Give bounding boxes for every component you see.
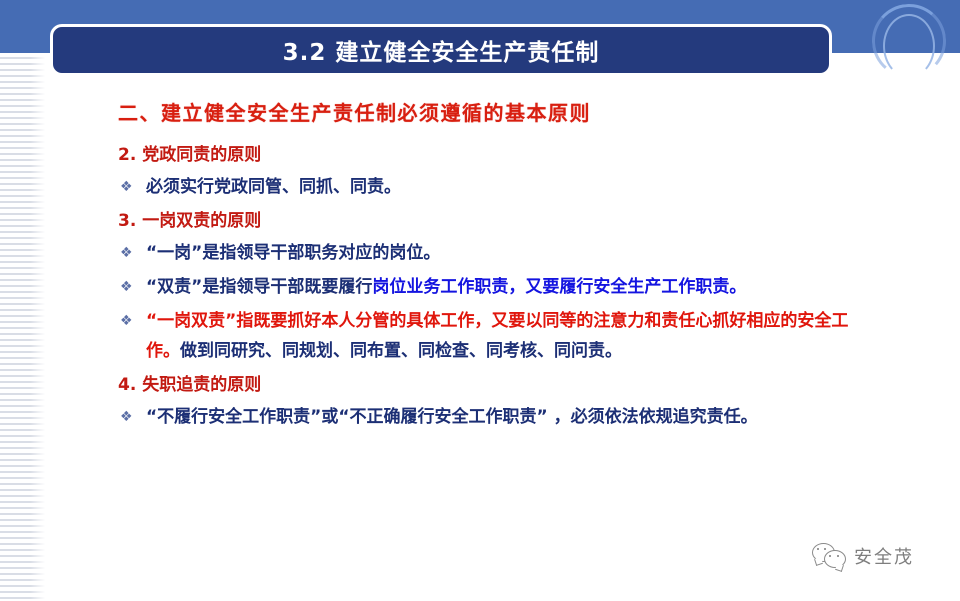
bullet-text: “一岗”是指领导干部职务对应的岗位。 — [146, 238, 878, 268]
content-blocks: 2. 党政同责的原则❖必须实行党政同管、同抓、同责。3. 一岗双责的原则❖“一岗… — [118, 142, 878, 432]
bullet-text: “一岗双责”指既要抓好本人分管的具体工作，又要以同等的注意力和责任心抓好相应的安… — [146, 306, 878, 366]
diamond-bullet-icon: ❖ — [118, 172, 146, 202]
slide-title-plaque: 3.2 建立健全安全生产责任制 — [50, 24, 832, 76]
bullet-item: ❖“一岗”是指领导干部职务对应的岗位。 — [118, 238, 878, 268]
bullet-item: ❖“双责”是指领导干部既要履行岗位业务工作职责，又要履行安全生产工作职责。 — [118, 272, 878, 302]
text-run: “一岗”是指领导干部职务对应的岗位。 — [146, 243, 440, 263]
text-run: “不履行安全工作职责”或“不正确履行安全工作职责” ，必须依法依规追究责任。 — [146, 407, 758, 427]
page-title: 3.2 建立健全安全生产责任制 — [283, 33, 600, 67]
text-run: 必须实行党政同管、同抓、同责。 — [146, 177, 401, 197]
principle-heading: 2. 党政同责的原则 — [118, 142, 878, 168]
bullet-text: 必须实行党政同管、同抓、同责。 — [146, 172, 878, 202]
diamond-bullet-icon: ❖ — [118, 272, 146, 302]
diamond-bullet-icon: ❖ — [118, 306, 146, 336]
slide-canvas: 3.2 建立健全安全生产责任制 二、建立健全安全生产责任制必须遵循的基本原则 2… — [0, 0, 960, 601]
diamond-bullet-icon: ❖ — [118, 402, 146, 432]
diamond-bullet-icon: ❖ — [118, 238, 146, 268]
bullet-item: ❖必须实行党政同管、同抓、同责。 — [118, 172, 878, 202]
text-run: “双责”是指领导干部既要履行 — [146, 277, 372, 297]
text-run: 做到同研究、同规划、同布置、同检查、同考核、同问责。 — [180, 341, 622, 361]
principle-heading: 3. 一岗双责的原则 — [118, 208, 878, 234]
principle-heading: 4. 失职追责的原则 — [118, 372, 878, 398]
left-stripe-fade — [30, 53, 48, 601]
bullet-text: “双责”是指领导干部既要履行岗位业务工作职责，又要履行安全生产工作职责。 — [146, 272, 878, 302]
slide-body: 二、建立健全安全生产责任制必须遵循的基本原则 2. 党政同责的原则❖必须实行党政… — [118, 98, 878, 436]
bullet-item: ❖“一岗双责”指既要抓好本人分管的具体工作，又要以同等的注意力和责任心抓好相应的… — [118, 306, 878, 366]
section-heading: 二、建立健全安全生产责任制必须遵循的基本原则 — [118, 98, 878, 128]
watermark-label: 安全茂 — [854, 543, 914, 569]
text-run: 岗位业务工作职责，又要履行安全生产工作职责。 — [372, 277, 746, 297]
wechat-icon — [812, 543, 846, 569]
watermark: 安全茂 — [812, 543, 914, 569]
bullet-item: ❖“不履行安全工作职责”或“不正确履行安全工作职责” ，必须依法依规追究责任。 — [118, 402, 878, 432]
arc-decoration-inner — [883, 14, 935, 78]
bullet-text: “不履行安全工作职责”或“不正确履行安全工作职责” ，必须依法依规追究责任。 — [146, 402, 878, 432]
